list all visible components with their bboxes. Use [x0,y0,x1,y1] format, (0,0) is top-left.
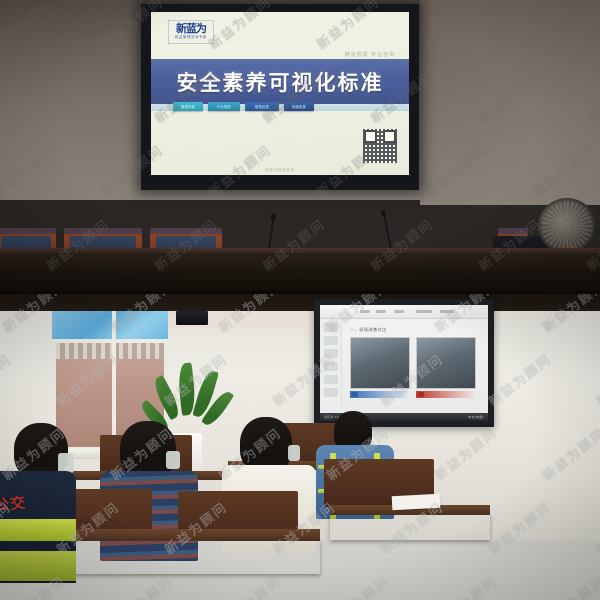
slide-nav-chips: 管理标准 行为规范 现场目视 持续改善 [173,102,363,111]
desk [330,514,490,540]
watermark-text: 新益为顾问 [106,571,177,600]
face-mask-icon [288,445,300,461]
qr-code-icon [363,129,397,163]
presentation-slide: 新蓝为 精益管理咨询专家 精益管理 专业咨询 安全素养可视化标准 管理标准 行为… [151,12,409,175]
slide-photo-after [416,337,476,389]
conference-table [0,253,600,293]
handout-paper [392,494,441,510]
slide-heading: 一、现场改善对比 [350,327,387,333]
watermark-text: 新益为顾问 [538,571,600,600]
slide-footnote: 新益为精益咨询 [265,167,294,172]
hi-vis-stripe [0,519,76,541]
window-railing [56,341,164,359]
caption-before [350,391,410,398]
window-mullion [52,339,168,343]
logo-sub-text: 精益管理咨询专家 [169,35,213,40]
powerpoint-ribbon [320,305,488,319]
slide-chip: 行为规范 [208,102,240,111]
watermark-text: 新益为顾问 [430,571,501,600]
projection-screen-frame-2: 一、现场改善对比 幻灯片 12 / 48 中文(中国) [314,299,494,427]
slide-chip: 持续改善 [284,102,314,111]
slide-photo-before [350,337,410,389]
slide-chip: 管理标准 [173,102,203,111]
auditorium-wall-right [420,0,600,205]
fan-grill [541,201,593,251]
face-mask-icon [58,453,74,473]
projection-screen-frame: 新蓝为 精益管理咨询专家 精益管理 专业咨询 安全素养可视化标准 管理标准 行为… [141,4,419,190]
window-curtain [52,311,168,341]
slide-side-text: 精益管理 专业咨询 [345,51,395,58]
projected-powerpoint: 一、现场改善对比 幻灯片 12 / 48 中文(中国) [320,305,488,421]
photo-collage: 新蓝为 精益管理咨询专家 精益管理 专业咨询 安全素养可视化标准 管理标准 行为… [0,0,600,600]
hi-vis-stripe [0,551,76,581]
brand-logo: 新蓝为 精益管理咨询专家 [168,20,214,44]
ceiling-beam [0,293,600,313]
window-mullion [112,311,116,451]
wall-speaker-icon [176,311,208,325]
photo-divider [0,291,600,294]
watermark-text: 新益为顾问 [322,571,393,600]
logo-main-text: 新蓝为 [169,24,213,35]
watermark-text: 新益为顾问 [214,571,285,600]
slide-title-banner: 安全素养可视化标准 [151,59,409,104]
slide-chip: 现场目视 [245,102,279,111]
top-photo: 新蓝为 精益管理咨询专家 精益管理 专业咨询 安全素养可视化标准 管理标准 行为… [0,0,600,293]
bottom-photo: 一、现场改善对比 幻灯片 12 / 48 中文(中国) [0,293,600,600]
status-language: 中文(中国) [468,415,484,419]
slide-thumbnail-pane [320,319,342,409]
slide-title: 安全素养可视化标准 [177,67,384,97]
caption-after [416,391,476,398]
face-mask-icon [166,451,180,469]
uniform-text: 公交 [0,491,27,515]
